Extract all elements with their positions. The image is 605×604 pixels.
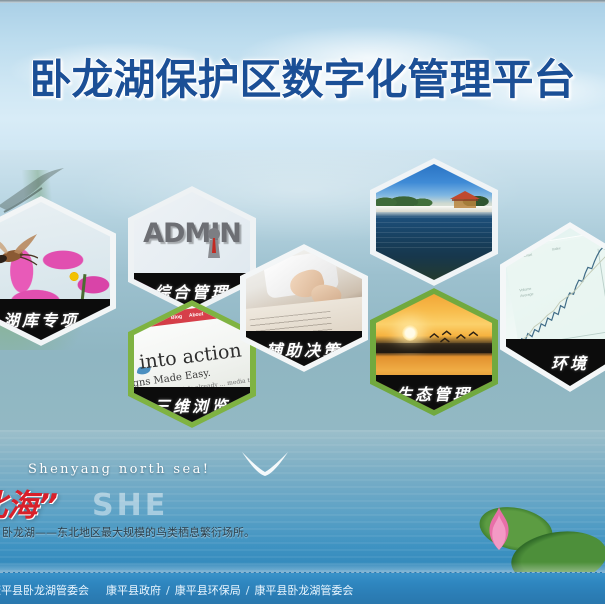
promo-description: 卧龙湖——东北地区最大规模的鸟类栖息繁衍场所。 bbox=[2, 524, 255, 540]
lotus-flower-icon bbox=[479, 506, 519, 552]
promo-ghost-text: SHE bbox=[92, 488, 168, 523]
shoreline-silhouette bbox=[376, 343, 492, 353]
app-root: 卧龙湖保护区数字化管理平台 湖库专 bbox=[0, 0, 605, 604]
water-edge-highlight bbox=[0, 562, 605, 572]
nav-hex-comprehensive-management[interactable]: ADMIN 综合管理 bbox=[128, 186, 256, 314]
footer-owner: 康平县卧龙湖管委会 bbox=[0, 582, 89, 598]
footer-bar: 康平县卧龙湖管委会 康平县政府 / 康平县环保局 / 康平县卧龙湖管委会 bbox=[0, 572, 605, 604]
hex-inner: Price Chart Index 250 200 Volume Average… bbox=[506, 228, 605, 386]
promo-chinese-tagline: 北海” bbox=[0, 480, 58, 525]
admin-wordmark: ADMIN bbox=[134, 218, 250, 249]
nav-hex-3d-browse[interactable]: Solutions Blog About into action igns Ma… bbox=[128, 300, 256, 428]
footer-separator-2: / bbox=[246, 584, 250, 597]
nav-hex-decision-support[interactable]: 辅助决策 bbox=[240, 244, 368, 372]
hex-label-text: 环境 bbox=[551, 350, 589, 374]
nav-hex-lake-pavilion[interactable] bbox=[370, 158, 498, 286]
mock-nav-item-2: About bbox=[189, 311, 204, 319]
footer-link-wolonghu-committee[interactable]: 康平县卧龙湖管委会 bbox=[254, 582, 353, 598]
footer-links: 康平县政府 / 康平县环保局 / 康平县卧龙湖管委会 bbox=[106, 582, 353, 598]
footer-link-county-government[interactable]: 康平县政府 bbox=[106, 582, 161, 598]
chess-pawn-icon bbox=[204, 227, 224, 261]
nav-hex-environment-monitoring[interactable]: Price Chart Index 250 200 Volume Average… bbox=[500, 222, 605, 392]
promo-block: Shenyang north sea! SHE 北海” 卧龙湖——东北地区最大规… bbox=[0, 452, 340, 552]
footer-separator-1: / bbox=[166, 584, 170, 597]
hummingbird-moth-icon bbox=[0, 232, 38, 272]
pavilion-icon bbox=[448, 190, 482, 210]
sun-icon bbox=[402, 325, 418, 341]
promo-english-tagline: Shenyang north sea! bbox=[28, 462, 210, 477]
nav-hex-lake-project[interactable]: 湖库专项 bbox=[0, 196, 116, 346]
nav-hex-ecology-management[interactable]: 生态管理 bbox=[370, 288, 498, 416]
water-reflection bbox=[376, 217, 492, 252]
footer-link-epb[interactable]: 康平县环保局 bbox=[175, 582, 241, 598]
